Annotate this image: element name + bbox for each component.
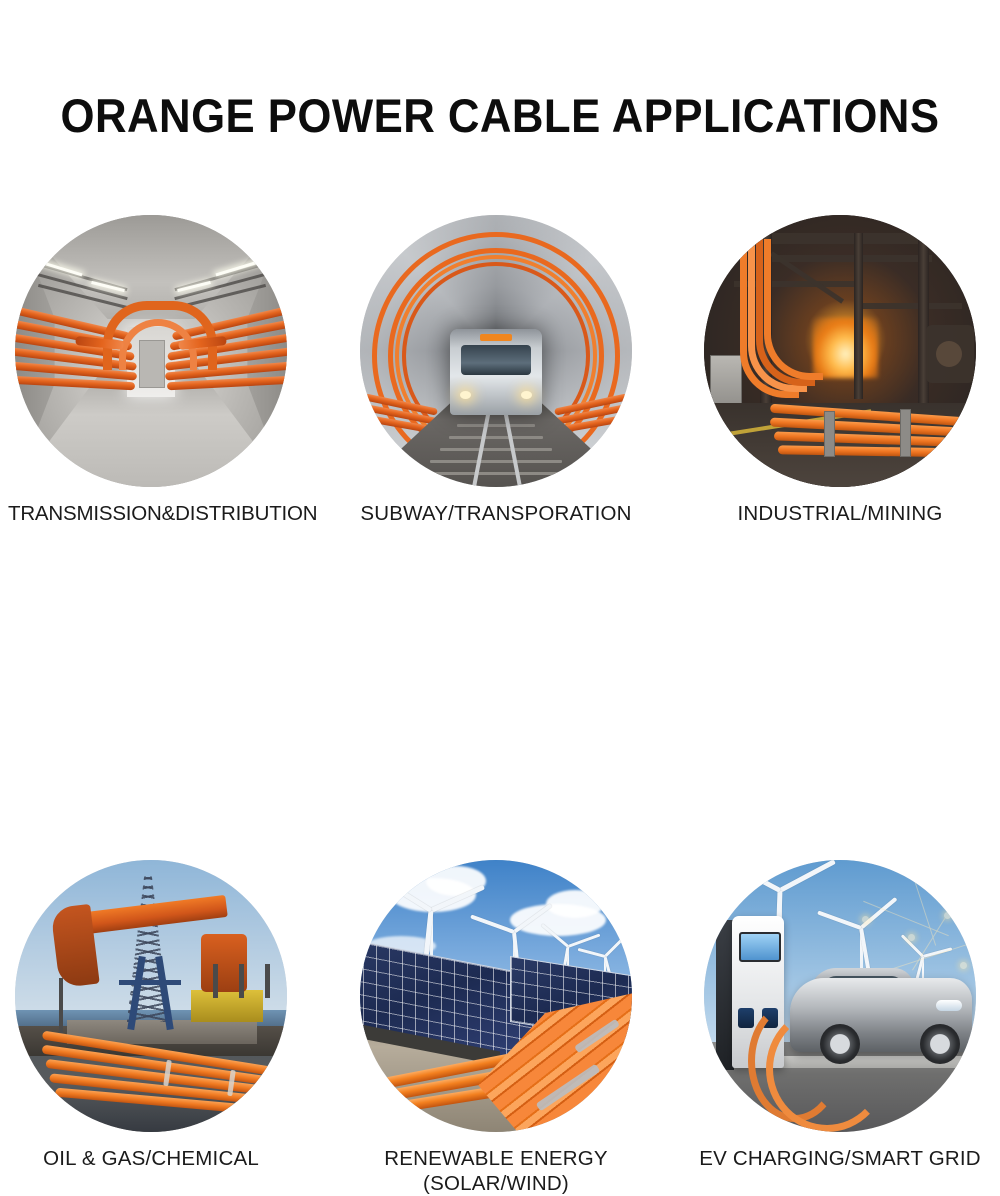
application-image-transmission-distribution (15, 215, 287, 487)
application-card-oil-gas-chemical[interactable]: OIL & GAS/CHEMICAL (8, 860, 294, 1171)
application-caption-transmission-distribution: TRANSMISSION&DISTRIBUTION (8, 501, 294, 526)
application-card-transmission-distribution[interactable]: TRANSMISSION&DISTRIBUTION (8, 215, 294, 526)
page-title: ORANGE POWER CABLE APPLICATIONS (35, 88, 965, 143)
oil-field-scene (15, 860, 287, 1132)
application-card-renewable-energy[interactable]: RENEWABLE ENERGY (SOLAR/WIND) (353, 860, 639, 1196)
application-caption-industrial-mining: INDUSTRIAL/MINING (697, 501, 983, 526)
application-image-subway-transportation (360, 215, 632, 487)
ev-charging-scene (704, 860, 976, 1132)
application-card-ev-charging-smart-grid[interactable]: EV CHARGING/SMART GRID (697, 860, 983, 1171)
application-caption-subway-transportation: SUBWAY/TRANSPORATION (353, 501, 639, 526)
solar-wind-scene (360, 860, 632, 1132)
application-image-industrial-mining (704, 215, 976, 487)
utility-tunnel-scene (15, 215, 287, 487)
application-card-subway-transportation[interactable]: SUBWAY/TRANSPORATION (353, 215, 639, 526)
application-caption-ev-charging-smart-grid: EV CHARGING/SMART GRID (697, 1146, 983, 1171)
steel-mill-scene (704, 215, 976, 487)
applications-row-1: TRANSMISSION&DISTRIBUTION (0, 215, 1000, 535)
applications-grid: TRANSMISSION&DISTRIBUTION (0, 215, 1000, 855)
application-image-renewable-energy (360, 860, 632, 1132)
application-caption-oil-gas-chemical: OIL & GAS/CHEMICAL (8, 1146, 294, 1171)
application-image-ev-charging-smart-grid (704, 860, 976, 1132)
application-caption-renewable-energy: RENEWABLE ENERGY (SOLAR/WIND) (353, 1146, 639, 1196)
charger-display (739, 932, 781, 962)
application-card-industrial-mining[interactable]: INDUSTRIAL/MINING (697, 215, 983, 526)
application-image-oil-gas-chemical (15, 860, 287, 1132)
subway-tunnel-scene (360, 215, 632, 487)
applications-row-2: OIL & GAS/CHEMICAL (0, 535, 1000, 855)
